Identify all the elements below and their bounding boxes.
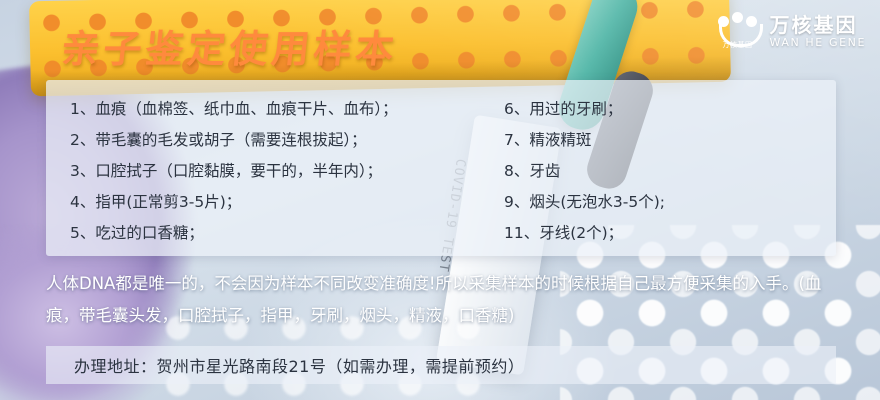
sample-list-left-column: 1、血痕（血棉签、纸巾血、血痕干片、血布）； 2、带毛囊的毛发或胡子（需要连根拔…	[46, 80, 466, 256]
list-item: 3、口腔拭子（口腔黏膜，要干的，半年内）；	[70, 156, 466, 187]
list-item: 4、指甲(正常剪3-5片)；	[70, 187, 466, 218]
address-text: 办理地址：贺州市星光路南段21号（如需办理，需提前预约）	[46, 353, 524, 377]
logo-dot-center	[732, 12, 743, 23]
sample-list-panel: 1、血痕（血棉签、纸巾血、血痕干片、血布）； 2、带毛囊的毛发或胡子（需要连根拔…	[46, 80, 836, 256]
sample-list-right-column: 6、用过的牙刷； 7、精液精斑 8、牙齿 9、烟头(无泡水3-5个); 11、牙…	[466, 80, 796, 256]
brand-logo: 万核基因 万核基因 WAN HE GENE	[716, 12, 867, 52]
description-paragraph: 人体DNA都是唯一的，不会因为样本不同改变准确度!所以采集样本的时候根据自己最方…	[46, 268, 846, 332]
helix-dots-icon: 万核基因	[716, 12, 760, 52]
list-item: 8、牙齿	[504, 156, 796, 187]
list-item: 1、血痕（血棉签、纸巾血、血痕干片、血布）；	[70, 94, 466, 125]
list-item: 11、牙线(2个)；	[504, 218, 796, 249]
poster-canvas: COVID-19 TEST 万核基因 万核基因 WAN HE GENE 亲子鉴定…	[0, 0, 880, 400]
brand-name-en: WAN HE GENE	[770, 37, 867, 49]
address-bar: 办理地址：贺州市星光路南段21号（如需办理，需提前预约）	[46, 346, 836, 384]
brand-text: 万核基因 WAN HE GENE	[770, 15, 867, 48]
list-item: 6、用过的牙刷；	[504, 94, 796, 125]
list-item: 7、精液精斑	[504, 125, 796, 156]
page-title: 亲子鉴定使用样本	[59, 18, 401, 73]
brand-name-cn: 万核基因	[770, 15, 867, 37]
logo-mark-subtext: 万核基因	[716, 40, 760, 50]
list-item: 9、烟头(无泡水3-5个);	[504, 187, 796, 218]
list-item: 5、吃过的口香糖；	[70, 218, 466, 249]
list-item: 2、带毛囊的毛发或胡子（需要连根拔起）；	[70, 125, 466, 156]
